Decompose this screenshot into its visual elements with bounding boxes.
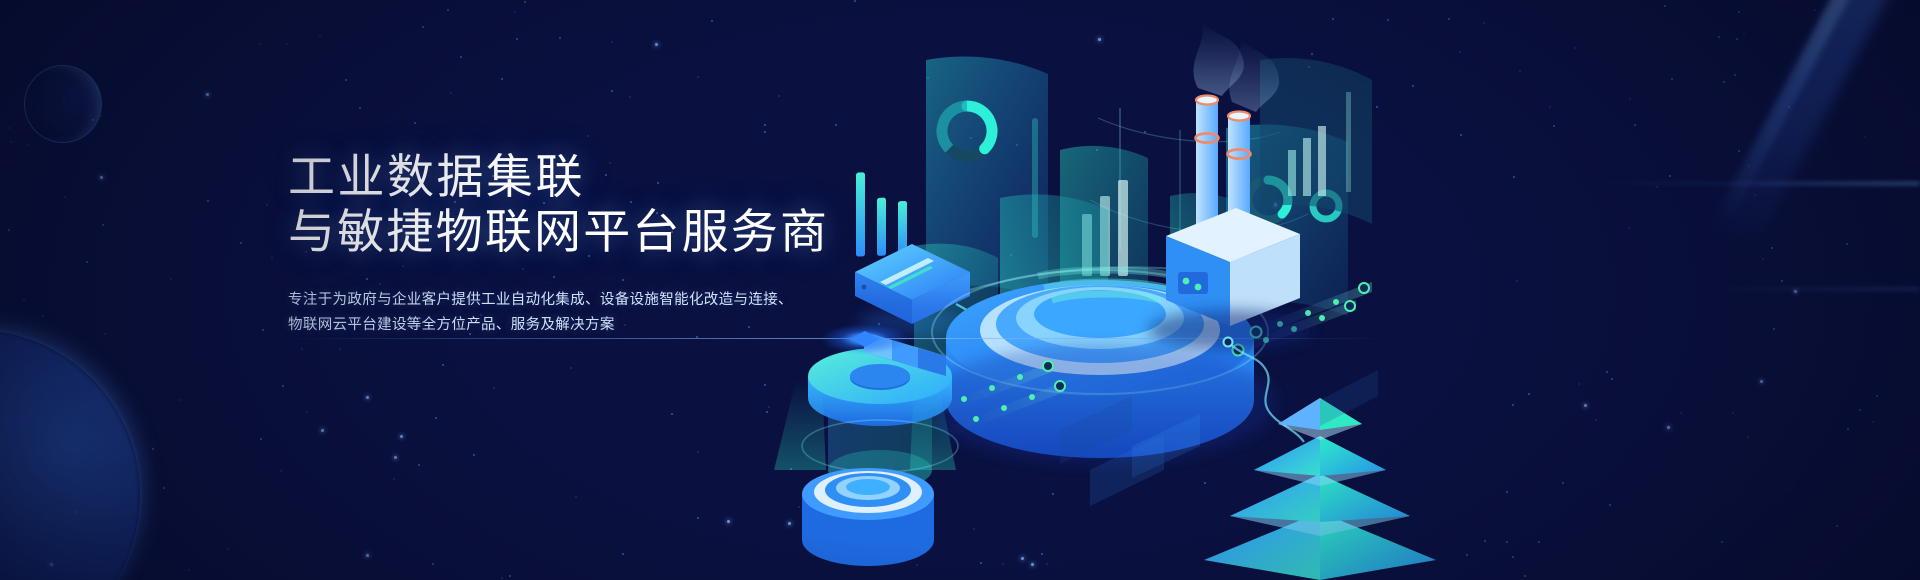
hero-banner: 工业数据集联 与敏捷物联网平台服务商 专注于为政府与企业客户提供工业自动化集成、… bbox=[0, 0, 1920, 580]
vignette-overlay bbox=[0, 0, 1920, 580]
